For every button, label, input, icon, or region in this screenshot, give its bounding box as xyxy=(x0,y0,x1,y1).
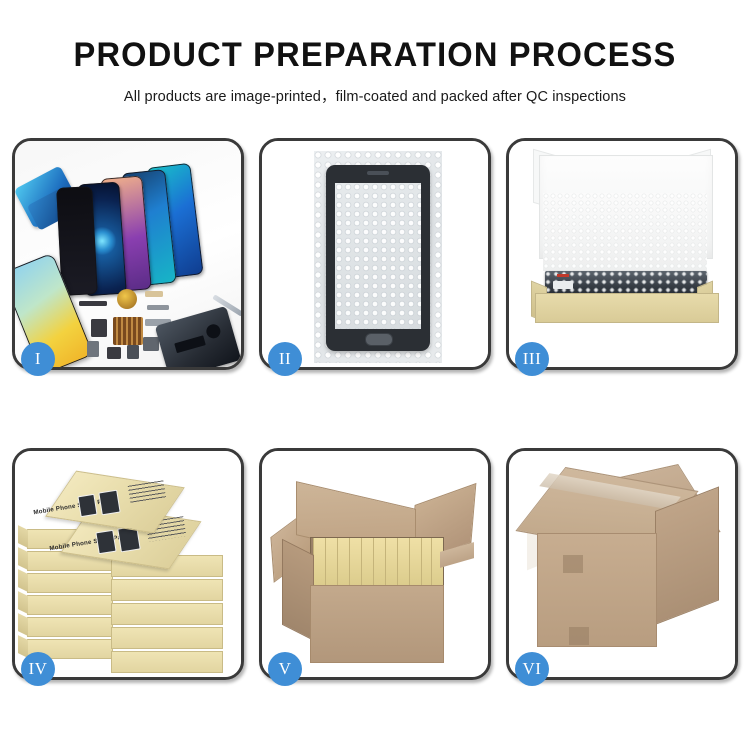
step-badge-5: V xyxy=(268,652,302,686)
phone-screen-icon xyxy=(326,165,430,351)
box-product-image-icon xyxy=(95,530,116,555)
packed-box-icon xyxy=(409,538,421,586)
carton-front-icon xyxy=(537,533,657,647)
speaker-icon xyxy=(107,347,121,359)
step-badge-4: IV xyxy=(21,652,55,686)
home-button-icon xyxy=(365,333,393,346)
kraft-box-icon xyxy=(111,579,223,601)
step-badge-1: I xyxy=(21,342,55,376)
kraft-box-icon xyxy=(111,627,223,649)
earpiece-slot-icon xyxy=(367,171,389,175)
carton-front-icon xyxy=(310,585,444,663)
board-camera-icon xyxy=(205,323,222,340)
box-product-image-icon xyxy=(98,490,120,516)
sim-tray-icon xyxy=(87,341,99,357)
step-panel-1: I xyxy=(12,138,244,370)
box-side-icon xyxy=(18,547,28,570)
copper-coil-icon xyxy=(117,289,137,309)
step-panel-3: III xyxy=(506,138,738,370)
kraft-box-icon xyxy=(111,603,223,625)
box-side-icon xyxy=(18,613,28,636)
carton-tape-tab-icon xyxy=(569,627,589,645)
bubble-wrap-icon xyxy=(314,151,442,363)
foam-padding-icon xyxy=(543,193,707,271)
kraft-box-icon xyxy=(27,595,113,615)
white-label-icon xyxy=(553,281,573,289)
box-side-icon xyxy=(18,569,28,592)
sealed-carton-photo xyxy=(509,451,735,677)
stacked-boxes-photo: Mobile Phone Spare Parts Mobile Phone Sp… xyxy=(15,451,241,677)
box-product-image-icon xyxy=(77,494,97,517)
step-panel-2: II xyxy=(259,138,491,370)
header: PRODUCT PREPARATION PROCESS All products… xyxy=(0,0,750,106)
packed-box-icon xyxy=(337,538,349,586)
kraft-box-icon xyxy=(27,573,113,593)
packed-box-icon xyxy=(361,538,373,586)
packed-box-icon xyxy=(373,538,385,586)
board-chip-icon xyxy=(174,335,206,353)
product-preparation-infographic: PRODUCT PREPARATION PROCESS All products… xyxy=(0,0,750,750)
small-connector-icon xyxy=(91,319,107,337)
gold-contact-icon xyxy=(145,291,163,297)
step-panel-5: V xyxy=(259,448,491,680)
logic-board-icon xyxy=(155,306,241,367)
box-side-icon xyxy=(18,635,28,658)
phone-parts-photo xyxy=(15,141,241,367)
kraft-box-icon xyxy=(111,651,223,673)
kraft-box-icon xyxy=(27,617,113,637)
carton-interior-icon xyxy=(310,537,444,591)
step-panel-6: VI xyxy=(506,448,738,680)
open-carton-photo xyxy=(262,451,488,677)
packed-box-icon xyxy=(385,538,397,586)
red-tab-icon xyxy=(557,274,569,277)
packed-box-icon xyxy=(325,538,337,586)
bubble-wrapped-screen-photo xyxy=(262,141,488,367)
screen-in-box-photo xyxy=(509,141,735,367)
chip-array-icon xyxy=(113,317,143,345)
carton-tape-tab-icon xyxy=(563,555,583,573)
camera-module-icon xyxy=(127,345,139,359)
carton-side-right-icon xyxy=(655,486,719,625)
step-panel-4: Mobile Phone Spare Parts Mobile Phone Sp… xyxy=(12,448,244,680)
page-title: PRODUCT PREPARATION PROCESS xyxy=(15,0,735,75)
box-side-icon xyxy=(18,591,28,614)
battery-cell-icon xyxy=(143,337,159,351)
flex-strip-icon xyxy=(79,301,107,306)
step-badge-3: III xyxy=(515,342,549,376)
box-front-panel-icon xyxy=(535,293,719,323)
box-side-icon xyxy=(18,525,28,548)
steps-grid: I II xyxy=(12,138,738,680)
packed-box-icon xyxy=(397,538,409,586)
step-badge-6: VI xyxy=(515,652,549,686)
step-badge-2: II xyxy=(268,342,302,376)
packed-box-icon xyxy=(349,538,361,586)
box-stack: Mobile Phone Spare Parts Mobile Phone Sp… xyxy=(15,451,241,677)
button-flex-icon xyxy=(147,305,169,310)
packed-box-icon xyxy=(313,538,325,586)
page-subtitle: All products are image-printed，film-coat… xyxy=(11,75,739,106)
